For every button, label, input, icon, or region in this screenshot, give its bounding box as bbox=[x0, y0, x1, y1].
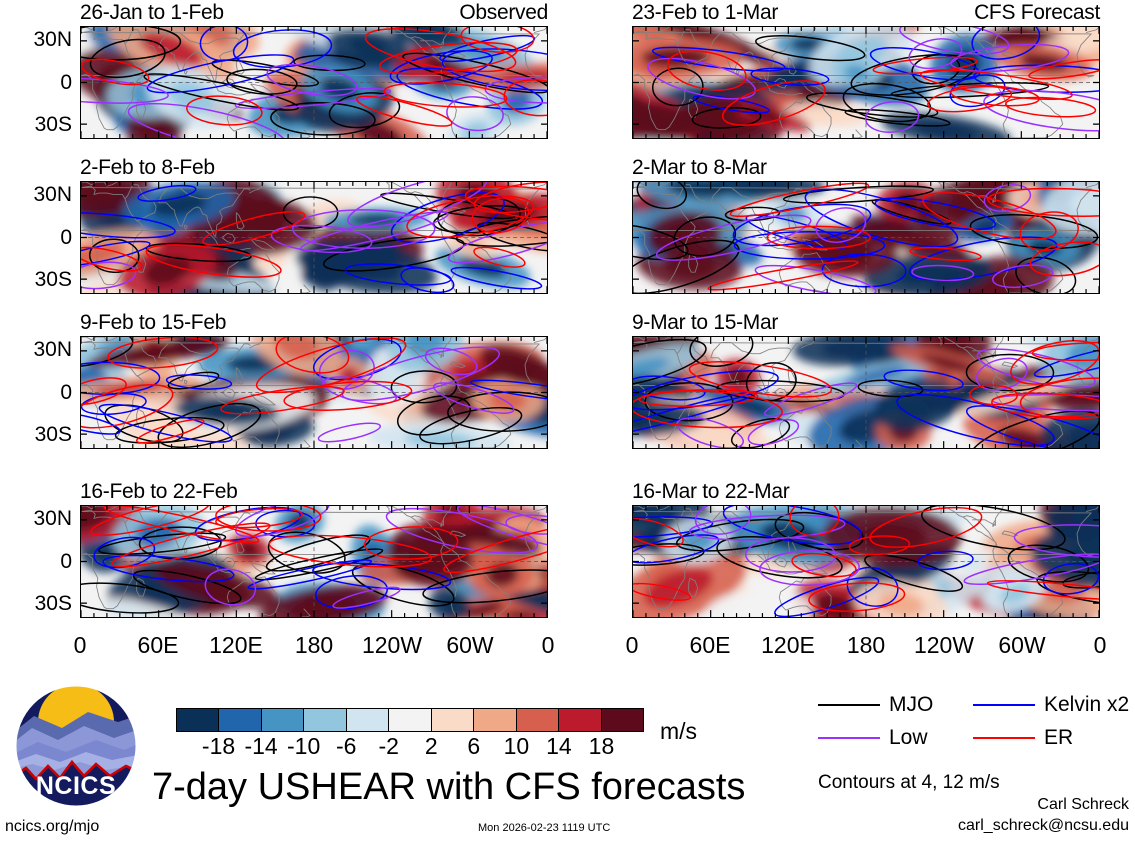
colorbar-ticklabels: -18-14-10-6-226101418 bbox=[176, 733, 644, 761]
x-tick-label: 120E bbox=[209, 632, 263, 659]
legend-item-kelvin: Kelvin x2 bbox=[973, 693, 1128, 717]
colorbar-swatch-4 bbox=[347, 709, 389, 731]
colorbar-tick-label: 10 bbox=[504, 733, 530, 760]
colorbar-tick-label: 6 bbox=[467, 733, 480, 760]
contour-interval-note: Contours at 4, 12 m/s bbox=[818, 772, 1000, 794]
x-tick-label: 180 bbox=[847, 632, 885, 659]
x-tick-label: 60E bbox=[690, 632, 731, 659]
x-tick-label: 0 bbox=[74, 632, 87, 659]
y-tick-label: 30N bbox=[33, 507, 72, 531]
colorbar-tick-label: -18 bbox=[202, 733, 235, 760]
colorbar-swatch-9 bbox=[559, 709, 601, 731]
colorbar-tick-label: -6 bbox=[336, 733, 356, 760]
x-tick-label: 0 bbox=[542, 632, 555, 659]
map-field bbox=[632, 336, 1100, 449]
x-tick-label: 0 bbox=[626, 632, 639, 659]
colorbar-units-label: m/s bbox=[660, 718, 697, 745]
panel-title: 2-Feb to 8-Feb bbox=[80, 156, 215, 180]
map-panel-8: 16-Mar to 22-Mar060E120E180120W60W0 bbox=[632, 505, 1100, 618]
colorbar-tick-label: 18 bbox=[589, 733, 615, 760]
x-tick-label: 120E bbox=[761, 632, 815, 659]
legend-label-kelvin: Kelvin x2 bbox=[1044, 693, 1129, 717]
legend-row: MJO Kelvin x2 bbox=[818, 688, 1128, 721]
y-tick-label: 30N bbox=[33, 28, 72, 52]
generated-timestamp: Mon 2026-02-23 1119 UTC bbox=[478, 822, 610, 834]
colorbar-swatch-1 bbox=[219, 709, 261, 731]
x-tick-label: 180 bbox=[295, 632, 333, 659]
y-tick-label: 30N bbox=[33, 338, 72, 362]
colorbar-swatch-3 bbox=[304, 709, 346, 731]
colorbar-swatch-7 bbox=[474, 709, 516, 731]
x-tick-label: 60W bbox=[446, 632, 493, 659]
author-email: carl_schreck@ncsu.edu bbox=[958, 817, 1129, 835]
column-header-right: CFS Forecast bbox=[974, 1, 1100, 25]
legend-label-mjo: MJO bbox=[889, 693, 933, 717]
site-url: ncics.org/mjo bbox=[5, 818, 99, 836]
colorbar-swatch-2 bbox=[262, 709, 304, 731]
colorbar-tick-label: -14 bbox=[244, 733, 277, 760]
x-axis: 060E120E180120W60W0 bbox=[632, 618, 1100, 652]
legend-item-er: ER bbox=[973, 726, 1128, 750]
panel-title: 26-Jan to 1-Feb bbox=[80, 1, 224, 25]
column-header-left: Observed bbox=[459, 1, 548, 25]
y-tick-label: 30N bbox=[33, 183, 72, 207]
y-tick-label: 0 bbox=[60, 381, 72, 405]
kelvin-line-swatch bbox=[973, 704, 1035, 706]
colorbar-swatch-10 bbox=[602, 709, 643, 731]
x-tick-label: 0 bbox=[1094, 632, 1107, 659]
figure-root: 26-Jan to 1-FebObserved30N030S2-Feb to 8… bbox=[0, 0, 1135, 844]
colorbar-swatch-0 bbox=[177, 709, 219, 731]
legend-item-low: Low bbox=[818, 726, 973, 750]
y-tick-label: 30S bbox=[35, 423, 72, 447]
panel-title: 16-Feb to 22-Feb bbox=[80, 480, 237, 504]
author-name: Carl Schreck bbox=[1037, 796, 1129, 814]
map-panel-2: 2-Feb to 8-Feb30N030S bbox=[80, 181, 548, 294]
panel-title: 2-Mar to 8-Mar bbox=[632, 156, 767, 180]
map-field bbox=[80, 26, 548, 139]
legend-item-mjo: MJO bbox=[818, 693, 973, 717]
contour-legend: MJO Kelvin x2 Low ER bbox=[818, 688, 1128, 754]
map-field bbox=[80, 336, 548, 449]
y-tick-label: 0 bbox=[60, 226, 72, 250]
x-axis: 060E120E180120W60W0 bbox=[80, 618, 548, 652]
colorbar-tick-label: -10 bbox=[287, 733, 320, 760]
map-field bbox=[632, 26, 1100, 139]
low-line-swatch bbox=[818, 737, 880, 739]
map-field bbox=[80, 181, 548, 294]
x-tick-label: 60E bbox=[138, 632, 179, 659]
map-panel-6: 2-Mar to 8-Mar bbox=[632, 181, 1100, 294]
legend-label-low: Low bbox=[889, 726, 928, 750]
legend-row: Low ER bbox=[818, 721, 1128, 754]
panel-title: 23-Feb to 1-Mar bbox=[632, 1, 778, 25]
y-tick-label: 30S bbox=[35, 592, 72, 616]
y-tick-label: 30S bbox=[35, 113, 72, 137]
y-tick-label: 0 bbox=[60, 550, 72, 574]
ncics-logo: NCICS bbox=[14, 684, 138, 808]
er-line-swatch bbox=[973, 737, 1035, 739]
colorbar bbox=[176, 708, 644, 732]
map-panel-5: 23-Feb to 1-MarCFS Forecast bbox=[632, 26, 1100, 139]
colorbar-swatch-6 bbox=[432, 709, 474, 731]
x-tick-label: 60W bbox=[998, 632, 1045, 659]
panel-title: 9-Mar to 15-Mar bbox=[632, 311, 778, 335]
map-panel-3: 9-Feb to 15-Feb30N030S bbox=[80, 336, 548, 449]
map-panel-7: 9-Mar to 15-Mar bbox=[632, 336, 1100, 449]
panel-title: 16-Mar to 22-Mar bbox=[632, 480, 789, 504]
map-field bbox=[80, 505, 548, 618]
colorbar-tick-label: 14 bbox=[546, 733, 572, 760]
map-field bbox=[632, 505, 1100, 618]
colorbar-swatch-5 bbox=[389, 709, 431, 731]
logo-text: NCICS bbox=[36, 772, 116, 800]
legend-label-er: ER bbox=[1044, 726, 1073, 750]
x-tick-label: 120W bbox=[362, 632, 422, 659]
map-panel-4: 16-Feb to 22-Feb30N030S060E120E180120W60… bbox=[80, 505, 548, 618]
map-field bbox=[632, 181, 1100, 294]
y-tick-label: 30S bbox=[35, 268, 72, 292]
mjo-line-swatch bbox=[818, 704, 880, 706]
x-tick-label: 120W bbox=[914, 632, 974, 659]
ncics-logo-graphic: NCICS bbox=[14, 684, 138, 808]
map-panel-1: 26-Jan to 1-FebObserved30N030S bbox=[80, 26, 548, 139]
colorbar-tick-label: -2 bbox=[378, 733, 398, 760]
colorbar-tick-label: 2 bbox=[425, 733, 438, 760]
panel-title: 9-Feb to 15-Feb bbox=[80, 311, 226, 335]
main-title: 7-day USHEAR with CFS forecasts bbox=[152, 766, 745, 809]
y-tick-label: 0 bbox=[60, 71, 72, 95]
colorbar-swatch-8 bbox=[517, 709, 559, 731]
